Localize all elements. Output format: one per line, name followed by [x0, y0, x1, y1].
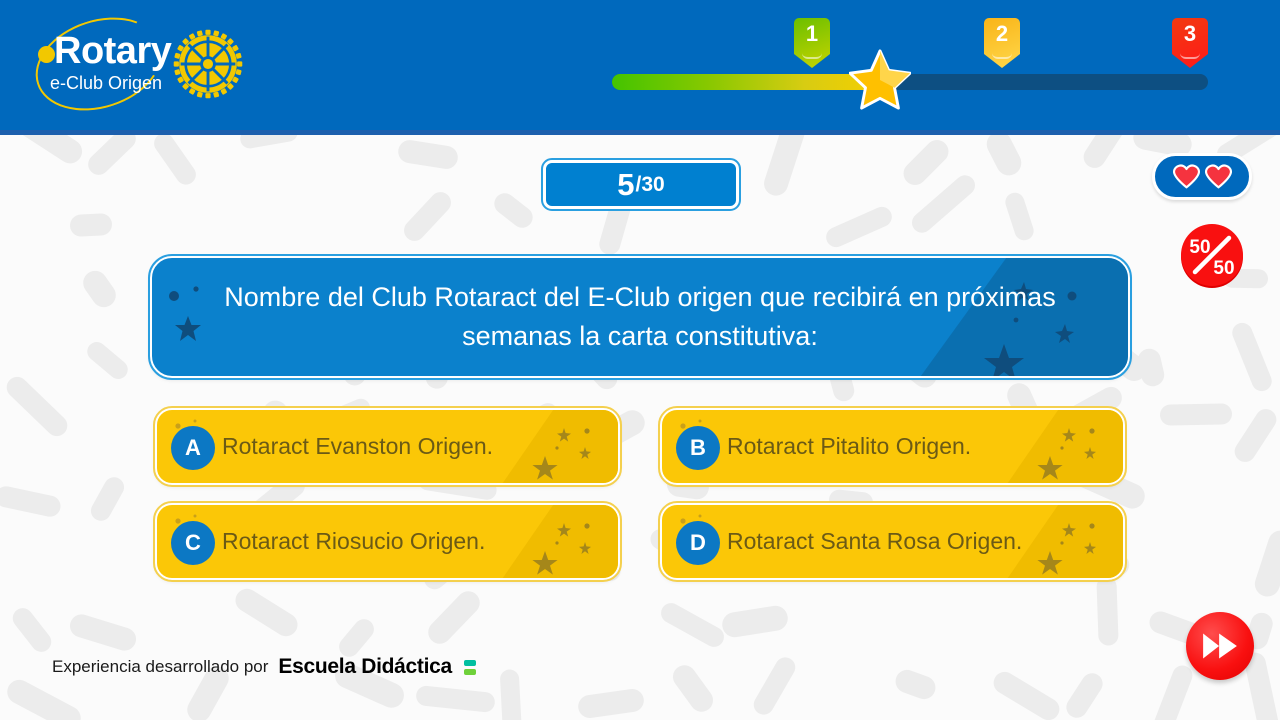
milestone-number: 3: [1172, 23, 1208, 45]
background-pill: [423, 586, 484, 648]
background-pill: [1062, 669, 1106, 720]
background-pill: [720, 604, 789, 639]
background-pill: [823, 204, 895, 251]
background-pill: [1160, 403, 1232, 425]
footer-brand-name: Escuela Didáctica: [278, 655, 452, 679]
heart-icon: [1173, 164, 1200, 189]
milestone-notch: [992, 53, 1012, 59]
background-pill: [500, 669, 523, 720]
rotary-logo: Rotary e-Club Origen: [22, 14, 232, 114]
background-pill: [78, 266, 120, 312]
answer-label: Rotaract Pitalito Origen.: [727, 410, 1023, 483]
background-pill: [0, 484, 62, 518]
fast-forward-icon: [1200, 630, 1240, 662]
footer-credit-text: Experiencia desarrollado por: [52, 657, 268, 677]
logo-wordmark: Rotary: [54, 32, 171, 70]
answer-decoration-right: [524, 517, 608, 579]
milestone-notch: [802, 53, 822, 59]
background-pill: [1252, 527, 1280, 599]
answer-label: Rotaract Santa Rosa Origen.: [727, 505, 1023, 578]
background-pill: [577, 688, 646, 720]
next-question-button[interactable]: [1186, 612, 1254, 680]
background-pill: [490, 189, 537, 232]
progress-milestone-1: 1: [794, 18, 830, 68]
answer-letter-badge: C: [171, 521, 215, 565]
background-pill: [3, 676, 85, 720]
counter-total: /30: [636, 174, 665, 195]
escuela-didactica-mark-icon: [464, 660, 476, 675]
answer-option-d[interactable]: D Rotaract Santa Rosa Origen.: [660, 503, 1125, 580]
background-pill: [668, 661, 717, 717]
background-pill: [415, 685, 496, 713]
background-pill: [982, 127, 1025, 179]
heart-icon: [1205, 164, 1232, 189]
progress-milestone-3: 3: [1172, 18, 1208, 68]
rotary-wheel-icon: [172, 28, 244, 100]
logo-subtitle: e-Club Origen: [50, 74, 162, 92]
progress-fill: [612, 74, 880, 90]
star-marker-icon: [849, 48, 911, 110]
background-pill: [1136, 346, 1167, 388]
lifeline-top-label: 50: [1189, 237, 1210, 258]
progress-milestone-2: 2: [984, 18, 1020, 68]
counter-current: 5: [617, 169, 634, 200]
answer-letter-badge: A: [171, 426, 215, 470]
logo-dot-icon: [38, 46, 55, 63]
progress-bar[interactable]: [612, 74, 1208, 90]
background-pill: [67, 612, 139, 654]
answer-decoration-right: [524, 422, 608, 484]
background-pill: [397, 138, 460, 170]
background-pill: [69, 213, 112, 237]
background-pill: [1231, 405, 1280, 466]
background-pill: [990, 668, 1064, 720]
background-pill: [1229, 320, 1275, 394]
background-pill: [657, 600, 727, 651]
answer-label: Rotaract Riosucio Origen.: [222, 505, 518, 578]
answer-label: Rotaract Evanston Origen.: [222, 410, 518, 483]
question-counter: 5 /30: [543, 160, 739, 209]
answer-decoration-right: [1029, 517, 1113, 579]
background-pill: [9, 604, 56, 656]
answer-letter-badge: B: [676, 426, 720, 470]
background-pill: [750, 654, 799, 719]
background-pill: [1148, 663, 1196, 720]
milestone-notch: [1180, 53, 1200, 59]
background-pill: [1003, 190, 1036, 242]
background-pill: [150, 130, 200, 189]
lives-indicator: [1152, 153, 1252, 200]
background-pill: [231, 584, 302, 640]
background-pill: [83, 338, 131, 383]
quiz-screen: Rotary e-Club Origen: [0, 0, 1280, 720]
lifeline-bottom-label: 50: [1213, 258, 1234, 279]
background-pill: [899, 135, 953, 189]
milestone-number: 2: [984, 23, 1020, 45]
background-pill: [87, 474, 127, 525]
background-pill: [400, 188, 456, 245]
question-text: Nombre del Club Rotaract del E-Club orig…: [208, 258, 1072, 376]
answer-option-c[interactable]: C Rotaract Riosucio Origen.: [155, 503, 620, 580]
header-bar: Rotary e-Club Origen: [0, 0, 1280, 135]
answer-decoration-right: [1029, 422, 1113, 484]
background-pill: [2, 373, 71, 441]
answer-option-b[interactable]: B Rotaract Pitalito Origen.: [660, 408, 1125, 485]
footer-credit-block: Experiencia desarrollado por Escuela Did…: [52, 655, 476, 679]
question-card: Nombre del Club Rotaract del E-Club orig…: [150, 256, 1130, 378]
fifty-fifty-lifeline-button[interactable]: 50 50: [1178, 222, 1246, 290]
answer-letter-badge: D: [676, 521, 720, 565]
background-pill: [1096, 576, 1118, 646]
background-pill: [892, 667, 938, 703]
answer-option-a[interactable]: A Rotaract Evanston Origen.: [155, 408, 620, 485]
milestone-number: 1: [794, 23, 830, 45]
background-pill: [908, 171, 979, 237]
